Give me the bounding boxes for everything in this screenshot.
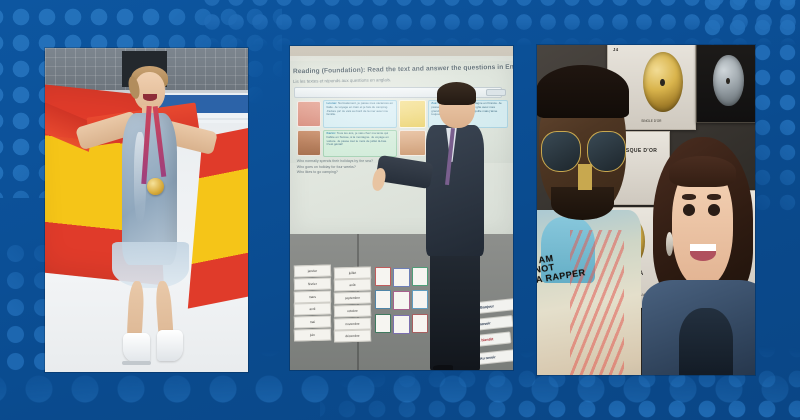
card-text-karim: Tous les ans, je vais chez ma tante qui … <box>326 131 388 146</box>
banner-canvas: Reading (Foundation): Read the text and … <box>0 0 800 420</box>
student-photo-leonie <box>297 101 321 127</box>
skate-blade <box>122 361 150 366</box>
platinum-record-disc <box>713 55 744 106</box>
woman-fringe <box>669 156 737 187</box>
man-hair <box>537 65 629 118</box>
plaque-label-j4: J4 <box>613 47 618 52</box>
whiteboard-title: Reading (Foundation): Read the text and … <box>293 63 512 75</box>
vocab-card <box>375 267 391 286</box>
ice-skate-right <box>157 330 183 361</box>
sunglasses-right-lens <box>587 131 627 173</box>
month-card-novembre: novembre <box>334 317 371 330</box>
teacher-figure <box>419 85 508 370</box>
photo-french-lesson-whiteboard: Reading (Foundation): Read the text and … <box>290 46 513 370</box>
photo-studio-gold-records: J4 SINGLE D'OR DISQUE D'OR VITAA DE LA M… <box>537 45 755 375</box>
student-photo-karim <box>297 130 321 156</box>
month-card-juin: juin <box>294 328 331 341</box>
text-card-karim: Karim: Tous les ans, je vais chez ma tan… <box>323 130 396 157</box>
skater-skirt <box>112 242 189 287</box>
gold-medal <box>147 178 164 196</box>
sunglasses-left-lens <box>541 131 581 173</box>
vocab-card <box>393 315 409 334</box>
month-card-janvier: janvier <box>294 265 331 278</box>
teacher-hair <box>437 82 476 105</box>
woman-scarf <box>679 308 734 375</box>
woman-eye-left <box>683 204 695 216</box>
photo-ice-skater-spanish-flag <box>45 48 248 372</box>
woman-eye-right <box>708 204 720 216</box>
man-with-sunglasses: I AM NOT A RAPPER <box>537 65 646 375</box>
vocab-card <box>393 291 409 310</box>
woman-smile <box>690 244 716 261</box>
month-card-juillet: juillet <box>334 266 371 279</box>
vocab-card <box>375 314 391 333</box>
sunglasses-bridge <box>578 164 593 190</box>
month-card-decembre: décembre <box>334 330 371 343</box>
woman-with-dark-hair <box>650 137 755 375</box>
month-card-septembre: septembre <box>334 292 371 305</box>
month-card-octobre: octobre <box>334 304 371 317</box>
gold-record-plaque-2 <box>696 45 755 123</box>
teacher-shoe <box>433 365 453 370</box>
teacher-trousers <box>430 250 480 370</box>
vocab-card <box>375 290 391 309</box>
text-card-leonie: Léonie: Normalement, je passe mes vacanc… <box>323 100 396 128</box>
whiteboard-subtitle: Lis les textes et réponds aux questions … <box>293 75 512 84</box>
month-card-aout: août <box>334 279 371 292</box>
month-card-mai: mai <box>294 316 331 329</box>
man-beard <box>551 187 614 220</box>
gold-record-disc <box>643 52 683 113</box>
month-card-fevrier: février <box>294 277 331 290</box>
months-display-cards: janvier juillet février août mars septem… <box>294 265 370 340</box>
month-card-avril: avril <box>294 303 331 316</box>
month-card-mars: mars <box>294 290 331 303</box>
vocab-card <box>393 268 409 287</box>
ice-skate-left <box>123 333 149 362</box>
teacher-jumper <box>426 125 483 256</box>
card-text-leonie: Normalement, je passe mes vacances en It… <box>326 101 393 116</box>
